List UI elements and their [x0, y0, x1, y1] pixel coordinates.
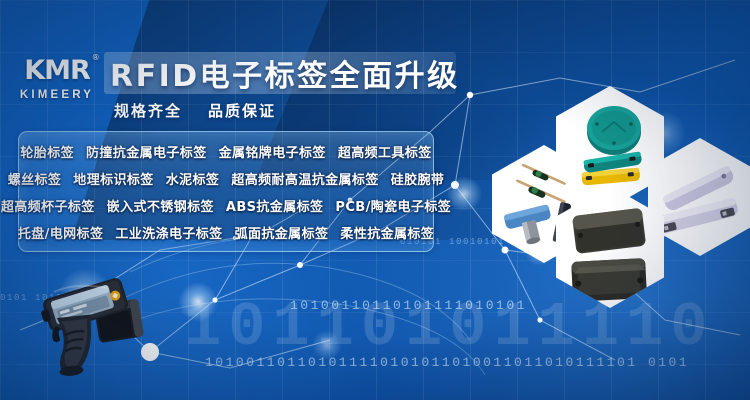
product-item[interactable]: 柔性抗金属标签 — [340, 223, 434, 242]
product-item[interactable]: 金属铭牌电子标签 — [219, 142, 326, 161]
product-item[interactable]: 超高频杯子标签 — [1, 196, 95, 215]
product-item[interactable]: 超高频耐高温抗金属标签 — [231, 169, 378, 188]
brand-logo: KMR ® KIMEERY — [14, 52, 100, 106]
reader-device-photo — [36, 272, 166, 380]
subtitle-group: 规格齐全 品质保证 — [114, 100, 276, 121]
binary-bottom-text: 1010011011010111101010110100110110101111… — [205, 355, 689, 370]
rfid-promo-banner: 101101011110 10100110110101111010101 101… — [0, 0, 750, 400]
product-item[interactable]: 水泥标签 — [166, 169, 220, 188]
product-row: 超高频杯子标签 嵌入式不锈钢标签 ABS抗金属标签 PCB/陶瓷电子标签 — [25, 192, 427, 219]
product-row: 托盘/电网标签 工业洗涤电子标签 弧面抗金属标签 柔性抗金属标签 — [25, 219, 427, 246]
subtitle-item-1: 品质保证 — [208, 100, 276, 121]
binary-large-text: 101101011110 — [184, 292, 714, 363]
product-item[interactable]: 工业洗涤电子标签 — [115, 223, 222, 242]
binary-top-text: 10100110110101111010101 — [290, 298, 527, 313]
product-item[interactable]: 轮胎标签 — [20, 142, 74, 161]
product-item[interactable]: 硅胶腕带 — [391, 169, 445, 188]
glow-spot — [312, 330, 342, 360]
product-item[interactable]: 螺丝标签 — [8, 169, 62, 188]
product-row: 轮胎标签 防撞抗金属电子标签 金属铭牌电子标签 超高频工具标签 — [25, 138, 427, 165]
page-title: RFID电子标签全面升级 — [110, 52, 460, 94]
glow-spot — [446, 176, 482, 212]
product-item[interactable]: 地理标识标签 — [73, 169, 153, 188]
product-row: 螺丝标签 地理标识标签 水泥标签 超高频耐高温抗金属标签 硅胶腕带 — [25, 165, 427, 192]
subtitle-item-0: 规格齐全 — [114, 100, 182, 121]
logo-mark-text: KMR — [24, 55, 90, 86]
handheld-rfid-reader[interactable] — [36, 272, 166, 380]
product-item[interactable]: 弧面抗金属标签 — [235, 223, 329, 242]
logo-brand-name: KIMEERY — [20, 89, 94, 101]
product-category-panel: 轮胎标签 防撞抗金属电子标签 金属铭牌电子标签 超高频工具标签 螺丝标签 地理标… — [18, 131, 434, 252]
logo-mark-icon: KMR ® — [24, 57, 90, 84]
product-item[interactable]: ABS抗金属标签 — [226, 196, 324, 215]
product-item[interactable]: 托盘/电网标签 — [18, 223, 104, 242]
product-item[interactable]: 防撞抗金属电子标签 — [86, 142, 207, 161]
product-item[interactable]: PCB/陶瓷电子标签 — [335, 196, 451, 215]
glow-spot — [178, 282, 218, 322]
registered-trademark-icon: ® — [92, 54, 99, 62]
product-item[interactable]: 嵌入式不锈钢标签 — [107, 196, 214, 215]
product-item[interactable]: 超高频工具标签 — [338, 142, 432, 161]
